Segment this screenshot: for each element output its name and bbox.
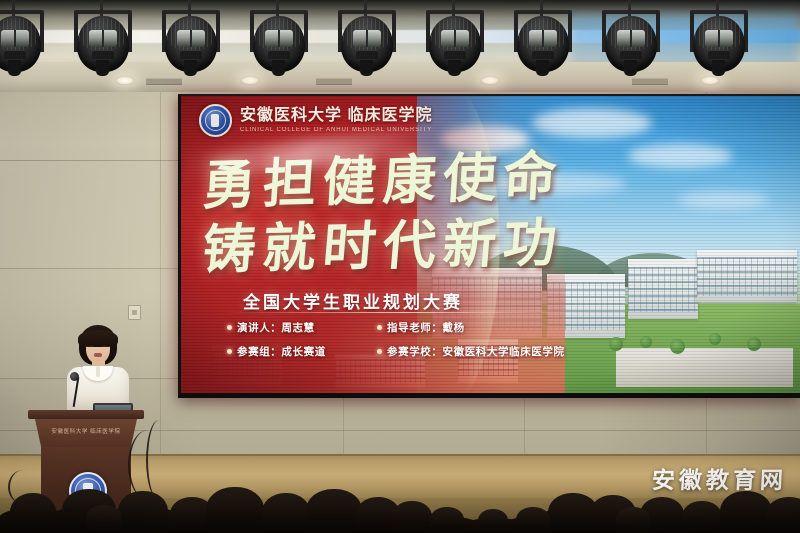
light-yoke [426,10,484,14]
light-yoke [514,10,572,14]
light-yoke [250,10,308,14]
competition-subtitle: 全国大学生职业规划大赛 [243,288,463,313]
cable [128,430,168,500]
speaker-eye [89,345,94,347]
light-knob [356,50,378,59]
audience-head [616,507,650,533]
screen-institution-header: 安徽医科大学 临床医学院 CLINICAL COLLEGE OF ANHUI M… [199,104,432,137]
light-lens [89,30,117,47]
bullet-icon [227,325,232,330]
stage-light [70,0,136,86]
microphone-icon [70,372,79,381]
speaker-fringe [78,330,118,347]
bullet-icon [377,349,382,354]
light-yoke [602,10,660,14]
presentation-photo: 安徽医科大学 临床医学院 CLINICAL COLLEGE OF ANHUI M… [0,0,800,533]
bullet-icon [227,349,232,354]
light-tail [272,60,285,76]
light-yoke [0,10,44,14]
screen-info-grid: 演讲人：周志慧指导老师：戴杨参赛组：成长赛道参赛学校：安徽医科大学临床医学院 [227,320,627,359]
podium-institution-text: 安徽医科大学 临床医学院 [28,427,144,435]
screen-info-item: 参赛组：成长赛道 [227,344,377,359]
stage-light [510,0,576,86]
stage-light [0,0,48,86]
light-tail [624,60,637,76]
stage-light [598,0,664,86]
screen-info-text: 参赛组：成长赛道 [237,344,326,359]
institution-name-cn: 安徽医科大学 临床医学院 [240,108,432,124]
audience-head [206,487,264,533]
site-watermark: 安徽教育网 [651,461,788,495]
light-tail [536,60,549,76]
screen-info-item: 指导老师：戴杨 [377,320,627,335]
wall-outlet [128,305,141,320]
speaker-mouth [94,353,102,357]
slogan-line-2: 铸就时代新功 [200,200,567,284]
university-emblem-icon [199,104,232,137]
led-presentation-screen: 安徽医科大学 临床医学院 CLINICAL COLLEGE OF ANHUI M… [178,94,800,398]
light-tail [96,60,109,76]
audience-head [86,505,122,533]
light-lens [529,30,557,47]
stage-light [334,0,400,86]
screen-info-text: 参赛学校：安徽医科大学临床医学院 [387,344,565,359]
audience-head [766,497,800,533]
bullet-icon [377,325,382,330]
light-knob [444,50,466,59]
light-lens [265,30,293,47]
audience-head [478,509,508,533]
light-knob [180,50,202,59]
stage-light [686,0,752,86]
screen-info-item: 参赛学校：安徽医科大学临床医学院 [377,344,627,359]
screen-info-item: 演讲人：周志慧 [227,320,377,335]
audience-head [682,501,722,533]
light-knob [92,50,114,59]
podium-top [28,410,144,419]
audience-head [720,491,772,533]
light-tail [712,60,725,76]
light-yoke [338,10,396,14]
light-lens [177,30,205,47]
light-knob [620,50,642,59]
light-yoke [162,10,220,14]
audience-head [516,507,550,533]
audience-head [392,501,432,533]
stage-light [246,0,312,86]
light-tail [448,60,461,76]
stage-light [422,0,488,86]
light-yoke [690,10,748,14]
audience-head [10,493,56,533]
light-lens [705,30,733,47]
light-tail [8,60,21,76]
light-yoke [74,10,132,14]
light-knob [708,50,730,59]
audience-head [118,491,168,533]
speaker-presenter [63,325,133,420]
light-lens [441,30,469,47]
light-knob [532,50,554,59]
light-lens [617,30,645,47]
audience-head [430,507,464,533]
light-lens [1,30,29,47]
institution-name-en: CLINICAL COLLEGE OF ANHUI MEDICAL UNIVER… [240,127,432,133]
screen-info-text: 演讲人：周志慧 [237,320,315,335]
screen-info-text: 指导老师：戴杨 [387,320,465,335]
stage-light [158,0,224,86]
light-knob [4,50,26,59]
audience-head [306,489,362,533]
speaker-eye [102,345,107,347]
light-tail [184,60,197,76]
light-tail [360,60,373,76]
screen-divider [225,312,585,313]
light-lens [353,30,381,47]
light-knob [268,50,290,59]
audience-head [262,493,310,533]
